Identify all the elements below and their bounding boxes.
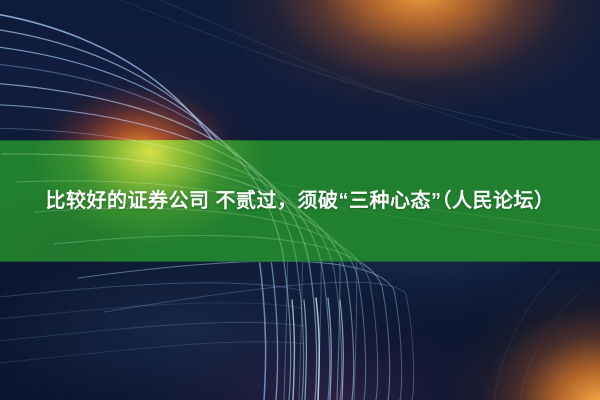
headline-text: 比较好的证券公司 不贰过，须破“三种心态”（人民论坛） (45, 183, 554, 219)
headline-container: 比较好的证券公司 不贰过，须破“三种心态”（人民论坛） (0, 140, 600, 262)
news-thumbnail-banner: 比较好的证券公司 不贰过，须破“三种心态”（人民论坛） (0, 0, 600, 400)
